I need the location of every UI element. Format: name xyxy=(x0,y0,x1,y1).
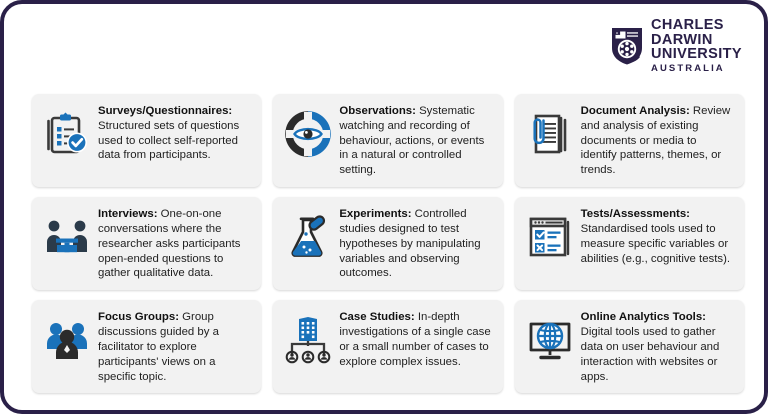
card-text: Case Studies: In-depth investigations of… xyxy=(339,309,493,369)
clipboard-check-icon xyxy=(40,107,94,161)
card-body: Standardised tools used to measure speci… xyxy=(581,223,730,265)
card-online-analytics-tools: Online Analytics Tools: Digital tools us… xyxy=(515,300,744,393)
browser-checklist-icon xyxy=(523,210,577,264)
card-title: Observations: xyxy=(339,105,416,117)
card-tests-assessments: Tests/Assessments: Standardised tools us… xyxy=(515,197,744,290)
focus-group-people-icon xyxy=(40,313,94,367)
logo-line-charles: CHARLES xyxy=(651,18,742,33)
card-title: Focus Groups: xyxy=(98,311,179,323)
card-body: Structured sets of questions used to col… xyxy=(98,120,239,162)
logo-line-australia: AUSTRALIA xyxy=(651,64,742,74)
building-org-chart-icon xyxy=(281,313,335,367)
card-text: Observations: Systematic watching and re… xyxy=(339,103,493,178)
interview-two-people-icon xyxy=(40,210,94,264)
research-methods-grid: Surveys/Questionnaires: Structured sets … xyxy=(32,94,744,393)
document-paperclip-icon xyxy=(523,107,577,161)
card-text: Interviews: One-on-one conversations whe… xyxy=(98,206,252,281)
infographic-frame: CHARLES DARWIN UNIVERSITY AUSTRALIA xyxy=(0,0,768,414)
card-text: Online Analytics Tools: Digital tools us… xyxy=(581,309,735,384)
card-experiments: Experiments: Controlled studies designed… xyxy=(273,197,502,290)
card-document-analysis: Document Analysis: Review and analysis o… xyxy=(515,94,744,187)
flask-test-tube-icon xyxy=(281,210,335,264)
card-body: Digital tools used to gather data on use… xyxy=(581,326,720,382)
card-case-studies: Case Studies: In-depth investigations of… xyxy=(273,300,502,393)
card-text: Surveys/Questionnaires: Structured sets … xyxy=(98,103,252,163)
card-text: Experiments: Controlled studies designed… xyxy=(339,206,493,281)
card-text: Tests/Assessments: Standardised tools us… xyxy=(581,206,735,266)
card-title: Tests/Assessments: xyxy=(581,208,690,220)
card-surveys-questionnaires: Surveys/Questionnaires: Structured sets … xyxy=(32,94,261,187)
card-title: Online Analytics Tools: xyxy=(581,311,706,323)
card-title: Surveys/Questionnaires: xyxy=(98,105,232,117)
monitor-globe-icon xyxy=(523,313,577,367)
cdu-shield-crest-icon xyxy=(610,26,644,66)
card-title: Case Studies: xyxy=(339,311,414,323)
logo-line-darwin: DARWIN xyxy=(651,33,742,48)
card-interviews: Interviews: One-on-one conversations whe… xyxy=(32,197,261,290)
card-title: Interviews: xyxy=(98,208,158,220)
card-text: Focus Groups: Group discussions guided b… xyxy=(98,309,252,384)
card-text: Document Analysis: Review and analysis o… xyxy=(581,103,735,178)
card-title: Document Analysis: xyxy=(581,105,690,117)
card-title: Experiments: xyxy=(339,208,411,220)
card-observations: Observations: Systematic watching and re… xyxy=(273,94,502,187)
card-focus-groups: Focus Groups: Group discussions guided b… xyxy=(32,300,261,393)
cdu-logo: CHARLES DARWIN UNIVERSITY AUSTRALIA xyxy=(610,18,742,73)
logo-line-university: UNIVERSITY xyxy=(651,47,742,62)
eye-observation-icon xyxy=(281,107,335,161)
